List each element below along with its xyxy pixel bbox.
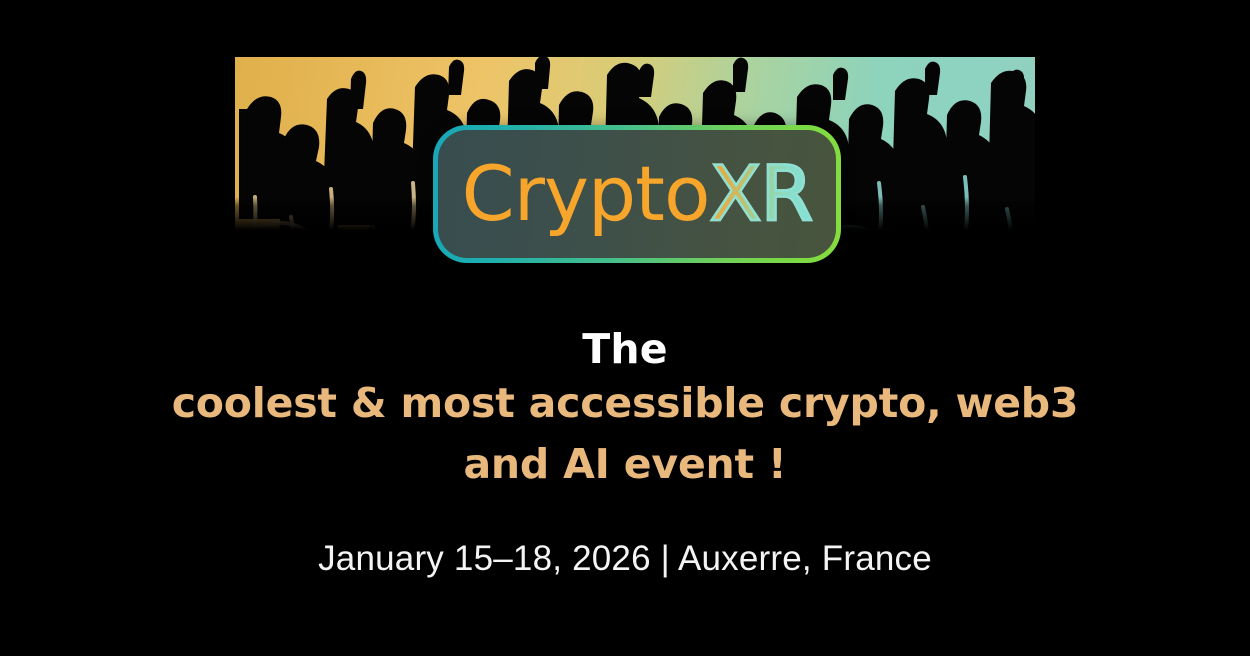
cryptoxr-logo: CryptoXR [433,125,841,263]
logo-word-xr: XR [709,156,812,232]
hero-banner: CryptoXR [235,57,1035,325]
cryptoxr-logo-text: CryptoXR [462,156,813,232]
tagline-line-the: The [0,325,1250,373]
tagline-block: The coolest & most accessible crypto, we… [0,325,1250,494]
tagline-line-primary: coolest & most accessible crypto, web3 [0,373,1250,433]
page-root: CryptoXR The coolest & most accessible c… [0,0,1250,656]
event-dateline: January 15–18, 2026 | Auxerre, France [0,539,1250,579]
tagline-line-secondary: and AI event ! [0,434,1250,494]
logo-word-crypto: Crypto [462,156,710,232]
